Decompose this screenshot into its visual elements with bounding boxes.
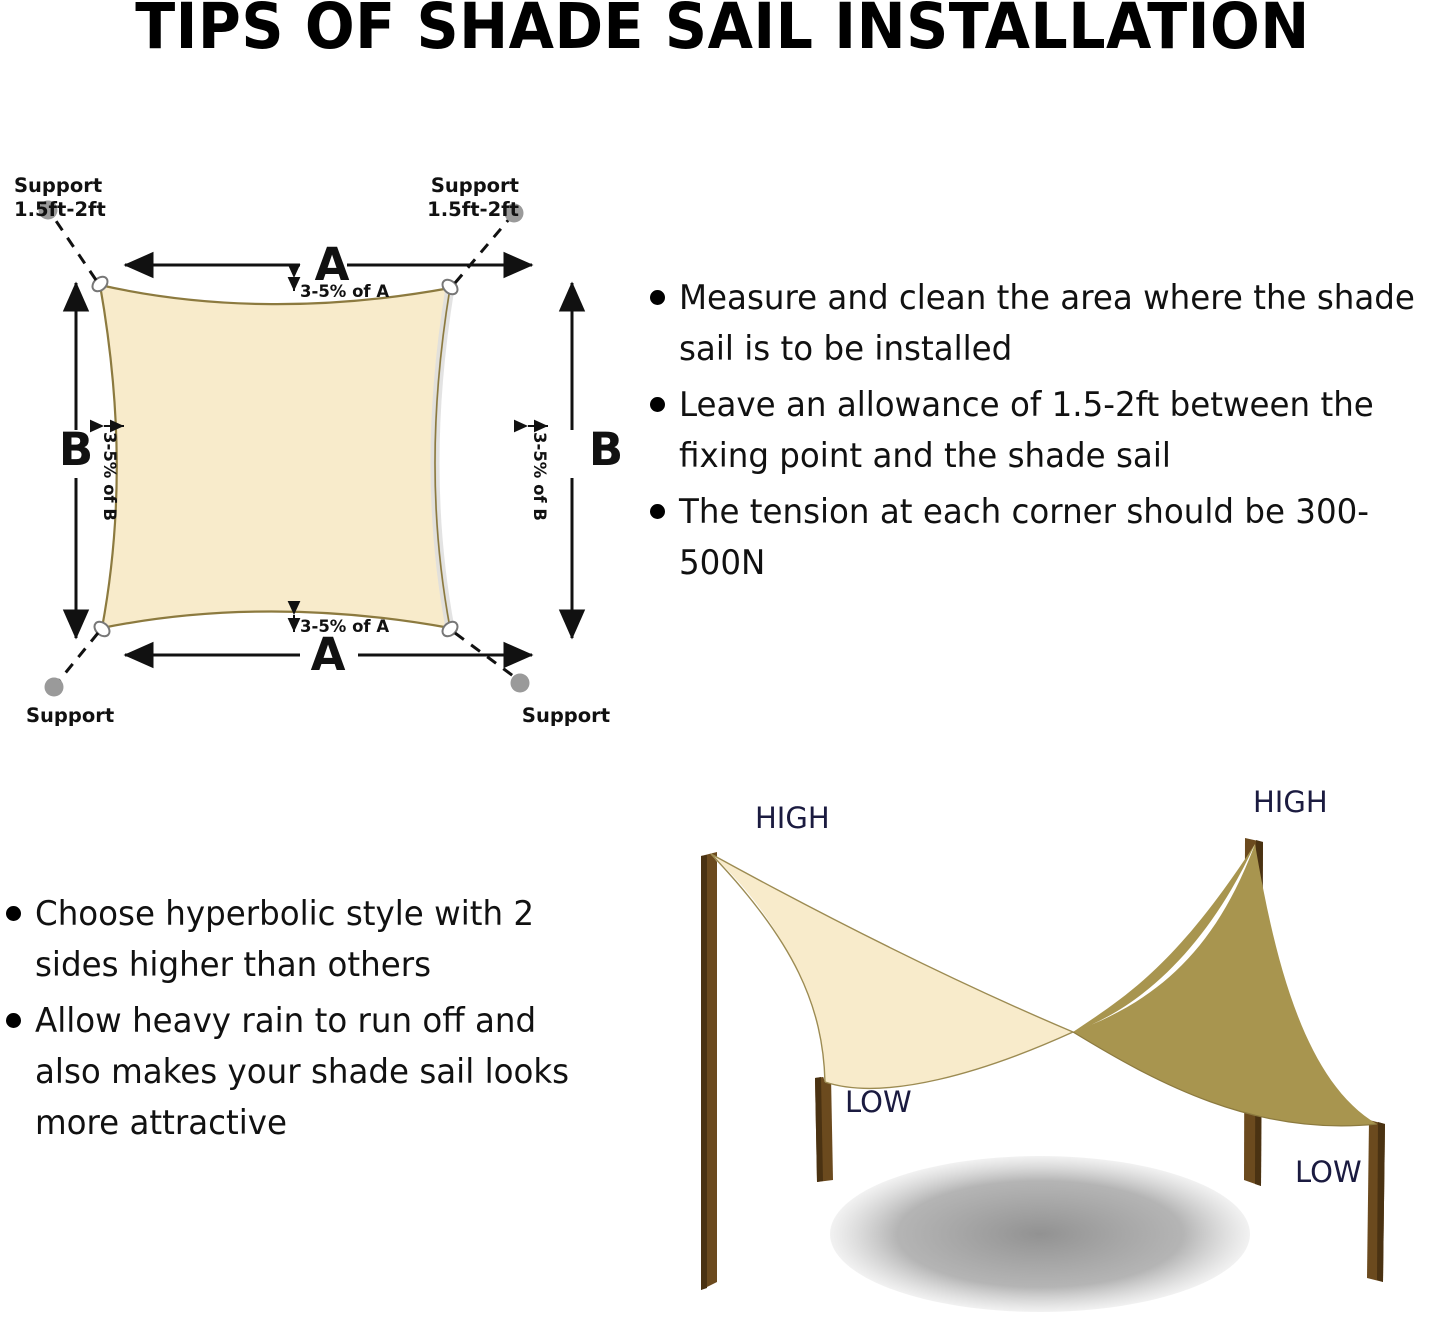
- list-item-label: Allow heavy rain to run off and also mak…: [35, 995, 599, 1148]
- support-label-top-left: Support 1.5ft-2ft: [14, 174, 106, 221]
- sail-panel-front: [711, 854, 1073, 1088]
- installation-tips-list-top: Measure and clean the area where the sha…: [650, 272, 1445, 593]
- page-title: TIPS OF SHADE SAIL INSTALLATION: [51, 0, 1395, 60]
- support-label-top-right-line2: 1.5ft-2ft: [427, 198, 519, 221]
- rectangular-sail-diagram: Support 1.5ft-2ft Support 1.5ft-2ft Supp…: [0, 160, 650, 730]
- support-label-top-left-line1: Support: [14, 174, 102, 197]
- bullet-dot-icon: [6, 1013, 21, 1028]
- curve-note-right-label: 3-5% of B: [530, 432, 549, 521]
- support-label-bottom-right-line2: 1.5ft-2ft: [520, 728, 612, 730]
- curve-note-left-label: 3-5% of B: [100, 432, 119, 521]
- bullet-dot-icon: [650, 504, 665, 519]
- installation-tips-list-bottom: Choose hyperbolic style with 2 sides hig…: [6, 888, 616, 1153]
- dimension-label-B-left: B: [59, 423, 93, 476]
- dimension-label-B-right: B: [589, 423, 623, 476]
- support-label-bottom-right: Support 1.5ft-2ft: [520, 704, 612, 730]
- list-item-label: Leave an allowance of 1.5-2ft between th…: [679, 379, 1427, 481]
- curve-note-top: 3-5% of A: [294, 278, 389, 301]
- curve-note-bottom-label: 3-5% of A: [300, 617, 389, 636]
- list-item: Leave an allowance of 1.5-2ft between th…: [650, 379, 1445, 481]
- list-item-label: Choose hyperbolic style with 2 sides hig…: [35, 888, 599, 990]
- support-label-top-left-line2: 1.5ft-2ft: [14, 198, 106, 221]
- label-high-left: HIGH: [755, 801, 830, 835]
- label-low-right: LOW: [1295, 1155, 1362, 1189]
- dimension-height-right: B: [572, 283, 623, 638]
- sail-fabric: [100, 285, 450, 628]
- curve-note-right: 3-5% of B: [528, 426, 549, 521]
- bullet-dot-icon: [650, 397, 665, 412]
- hyperbolic-sail-diagram: HIGH HIGH LOW LOW: [655, 782, 1445, 1319]
- list-item-label: The tension at each corner should be 300…: [679, 486, 1427, 588]
- post-front-right: [1367, 1120, 1385, 1282]
- list-item: Choose hyperbolic style with 2 sides hig…: [6, 888, 616, 990]
- support-label-top-right-line1: Support: [431, 174, 519, 197]
- support-label-bottom-right-line1: Support: [522, 704, 610, 727]
- dimension-height-left: B: [59, 283, 93, 638]
- post-back-left: [701, 852, 717, 1290]
- support-label-bottom-left-line1: Support: [26, 704, 114, 727]
- bullet-dot-icon: [650, 290, 665, 305]
- label-high-right: HIGH: [1253, 785, 1328, 819]
- curve-note-top-label: 3-5% of A: [300, 282, 389, 301]
- ground-shadow: [830, 1156, 1250, 1312]
- support-label-top-right: Support 1.5ft-2ft: [427, 174, 519, 221]
- label-low-left: LOW: [845, 1085, 912, 1119]
- support-label-bottom-left: Support 1.5ft-2ft: [26, 704, 118, 730]
- list-item: The tension at each corner should be 300…: [650, 486, 1445, 588]
- sail-panel-back: [1073, 844, 1377, 1126]
- support-label-bottom-left-line2: 1.5ft-2ft: [26, 728, 118, 730]
- post-front-left: [815, 1076, 833, 1182]
- bullet-dot-icon: [6, 906, 21, 921]
- curve-note-bottom: 3-5% of A: [294, 615, 389, 636]
- list-item-label: Measure and clean the area where the sha…: [679, 272, 1427, 374]
- list-item: Allow heavy rain to run off and also mak…: [6, 995, 616, 1148]
- list-item: Measure and clean the area where the sha…: [650, 272, 1445, 374]
- infographic-canvas: TIPS OF SHADE SAIL INSTALLATION: [0, 0, 1445, 1319]
